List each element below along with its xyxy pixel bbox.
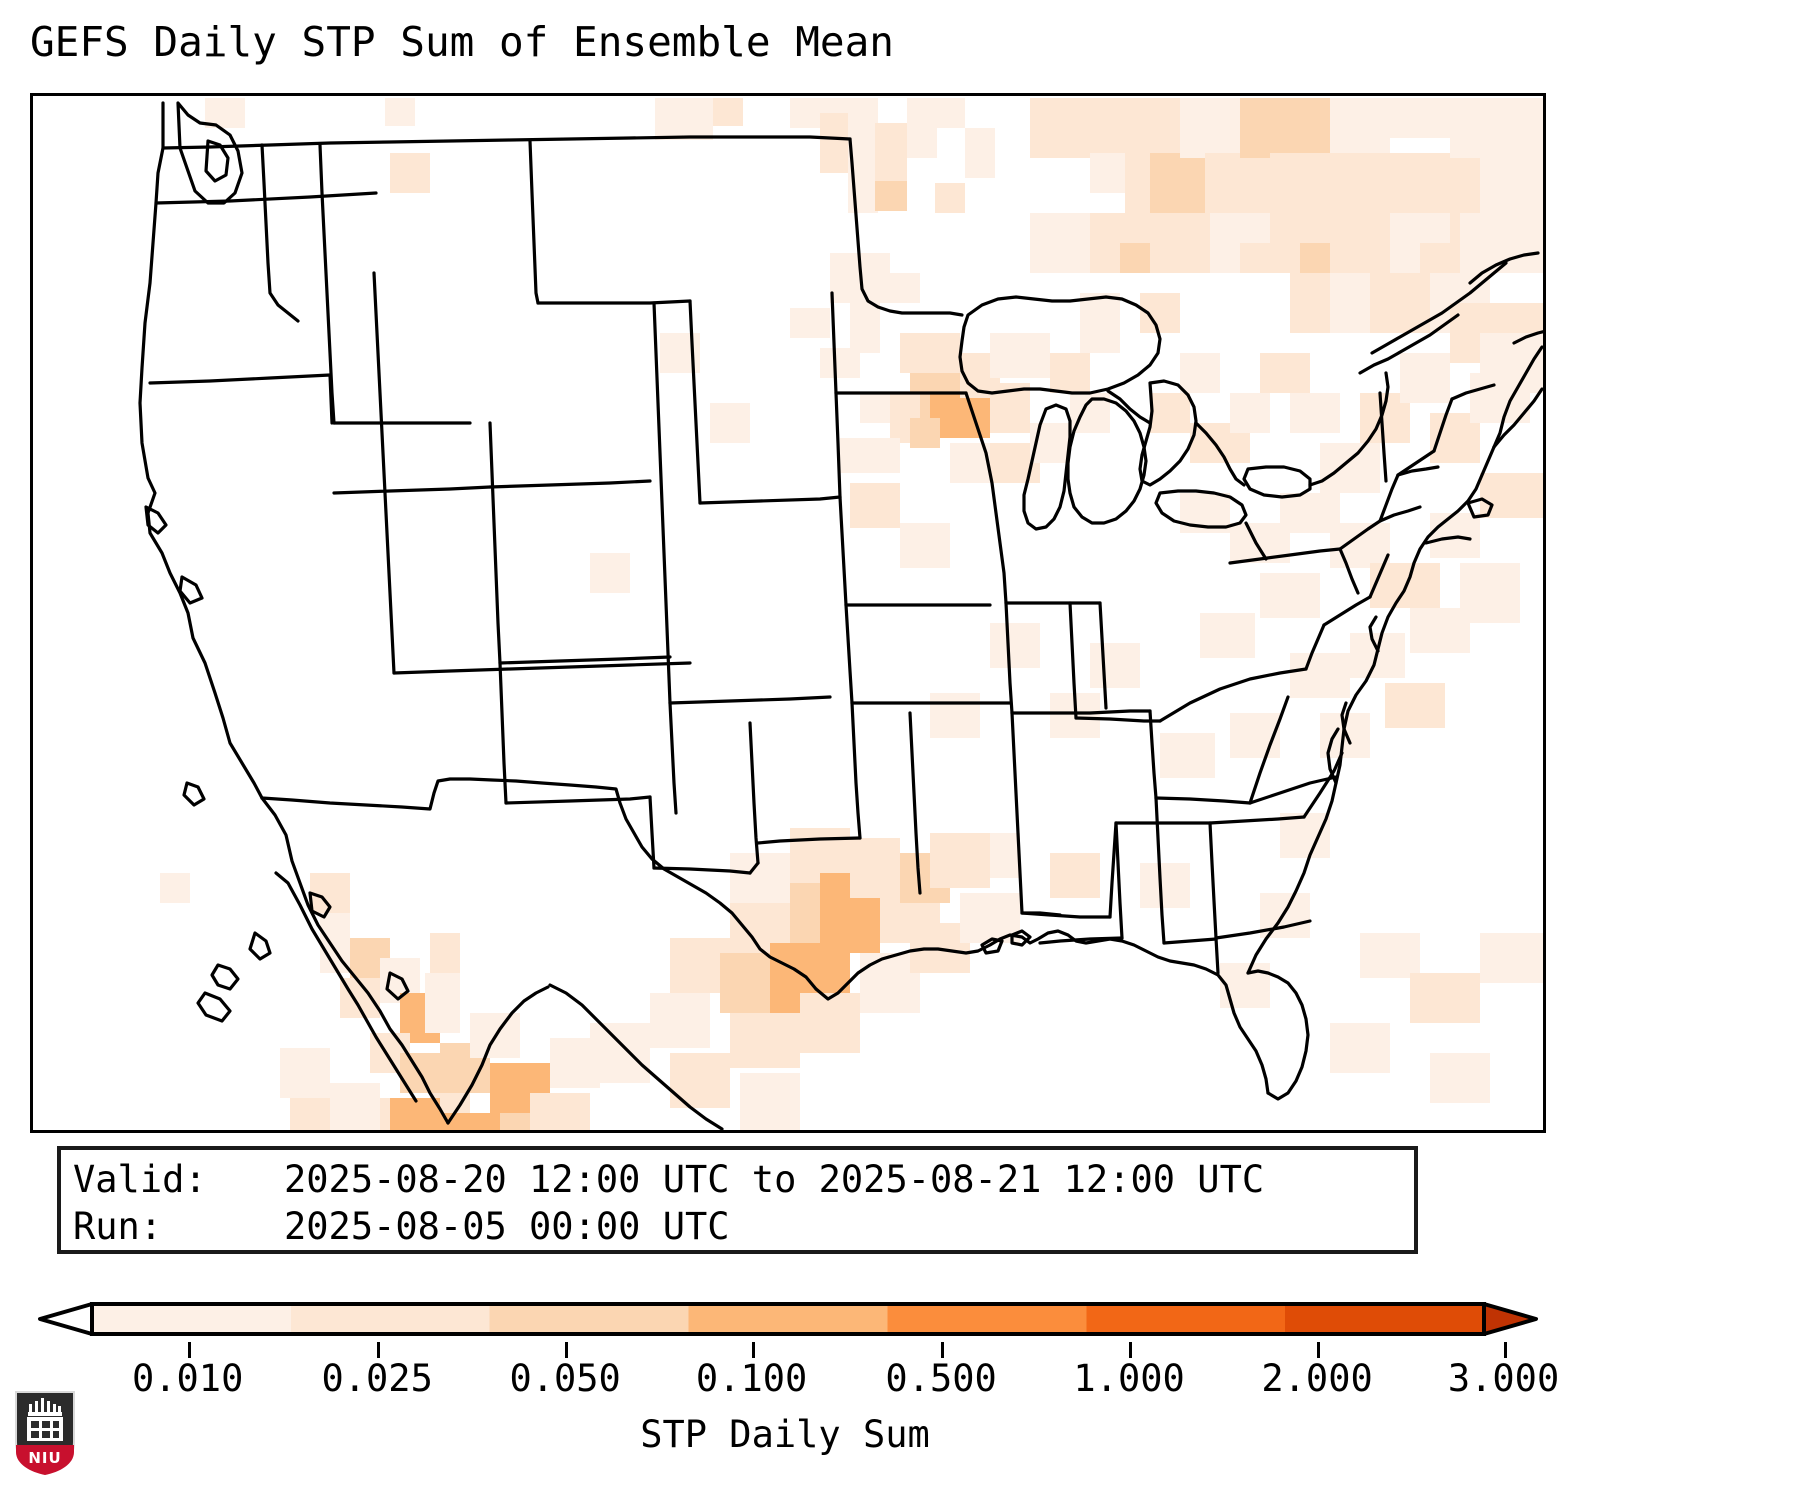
colorbar-tick-label: 3.000 xyxy=(1448,1358,1559,1400)
colorbar-tick-label: 0.100 xyxy=(696,1358,807,1400)
colorbar-tick-label: 0.050 xyxy=(509,1358,620,1400)
colorbar-tick-label: 0.010 xyxy=(132,1358,243,1400)
colorbar-tick xyxy=(377,1342,380,1358)
valid-line: Valid: 2025-08-20 12:00 UTC to 2025-08-2… xyxy=(73,1156,1402,1203)
colorbar-tick-label: 2.000 xyxy=(1261,1358,1372,1400)
colorbar-bands xyxy=(92,1304,1484,1334)
valid-value: 2025-08-20 12:00 UTC to 2025-08-21 12:00… xyxy=(284,1156,1264,1203)
colorbar-tick xyxy=(565,1342,568,1358)
colorbar-tick-label: 1.000 xyxy=(1073,1358,1184,1400)
colorbar-band xyxy=(92,1304,291,1334)
niu-logo: NIU xyxy=(14,1390,76,1476)
colorbar-band xyxy=(689,1304,888,1334)
map-svg xyxy=(30,93,1546,1133)
colorbar-tick xyxy=(1129,1342,1132,1358)
colorbar-ticks xyxy=(30,1342,1546,1358)
colorbar-band xyxy=(1086,1304,1285,1334)
run-label: Run: xyxy=(73,1203,284,1250)
colorbar-band xyxy=(1285,1304,1484,1334)
colorbar-band xyxy=(291,1304,490,1334)
colorbar-tick xyxy=(941,1342,944,1358)
run-value: 2025-08-05 00:00 UTC xyxy=(284,1203,730,1250)
colorbar-tick-labels: 0.0100.0250.0500.1000.5001.0002.0003.000 xyxy=(30,1358,1546,1402)
colorbar-tick xyxy=(752,1342,755,1358)
page-title: GEFS Daily STP Sum of Ensemble Mean xyxy=(30,16,894,68)
colorbar-tick-label: 0.500 xyxy=(885,1358,996,1400)
colorbar-band xyxy=(887,1304,1086,1334)
colorbar-tick xyxy=(188,1342,191,1358)
colorbar-band xyxy=(490,1304,689,1334)
run-line: Run: 2025-08-05 00:00 UTC xyxy=(73,1203,1402,1250)
colorbar-extend-left xyxy=(40,1304,92,1334)
colorbar-tick xyxy=(1504,1342,1507,1358)
niu-wordmark: NIU xyxy=(28,1449,61,1467)
valid-run-info-box: Valid: 2025-08-20 12:00 UTC to 2025-08-2… xyxy=(57,1146,1418,1254)
colorbar-tick xyxy=(1317,1342,1320,1358)
valid-label: Valid: xyxy=(73,1156,284,1203)
colorbar-axis-label: STP Daily Sum xyxy=(0,1412,1570,1458)
map-panel[interactable] xyxy=(30,93,1546,1133)
figure-root: GEFS Daily STP Sum of Ensemble Mean xyxy=(0,0,1803,1500)
colorbar-tick-label: 0.025 xyxy=(321,1358,432,1400)
colorbar-extend-right xyxy=(1484,1304,1536,1334)
colorbar-svg xyxy=(30,1296,1546,1342)
colorbar[interactable] xyxy=(30,1296,1546,1342)
